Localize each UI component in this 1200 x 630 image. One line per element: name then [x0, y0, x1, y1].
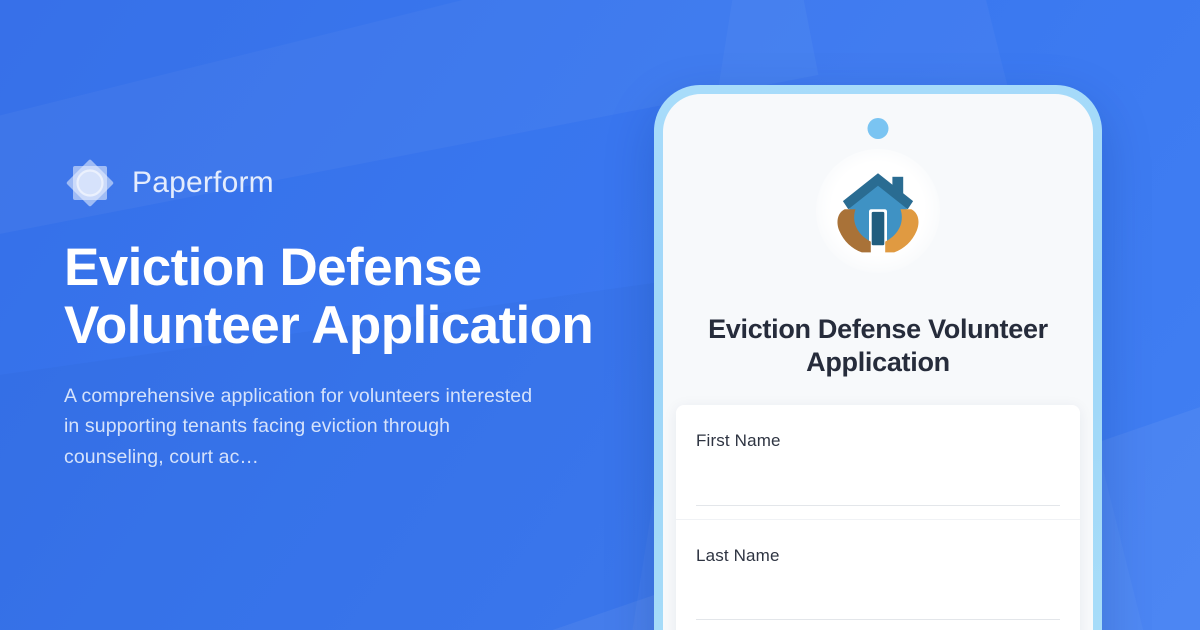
field-underline-first-name: [696, 505, 1060, 506]
camera-dot-icon: [868, 118, 889, 139]
field-underline-last-name: [696, 619, 1060, 620]
house-in-hands-icon: [816, 149, 940, 273]
form-field-last-name[interactable]: Last Name: [676, 519, 1080, 630]
form-card: First Name Last Name: [676, 405, 1080, 630]
promo-banner: Paperform Eviction Defense Volunteer App…: [0, 0, 1200, 630]
form-field-first-name[interactable]: First Name: [676, 405, 1080, 519]
field-label-first-name: First Name: [696, 431, 1060, 451]
form-title: Eviction Defense Volunteer Application: [679, 313, 1077, 379]
page-description: A comprehensive application for voluntee…: [64, 381, 546, 473]
brand-lockup: Paperform: [64, 157, 609, 209]
paperform-logo-icon: [64, 157, 116, 209]
phone-mockup: Eviction Defense Volunteer Application F…: [654, 85, 1102, 630]
brand-name: Paperform: [132, 166, 274, 200]
page-title: Eviction Defense Volunteer Application: [64, 239, 604, 355]
hero-content: Paperform Eviction Defense Volunteer App…: [64, 0, 609, 630]
phone-screen: Eviction Defense Volunteer Application F…: [663, 94, 1093, 630]
field-label-last-name: Last Name: [696, 546, 1060, 566]
